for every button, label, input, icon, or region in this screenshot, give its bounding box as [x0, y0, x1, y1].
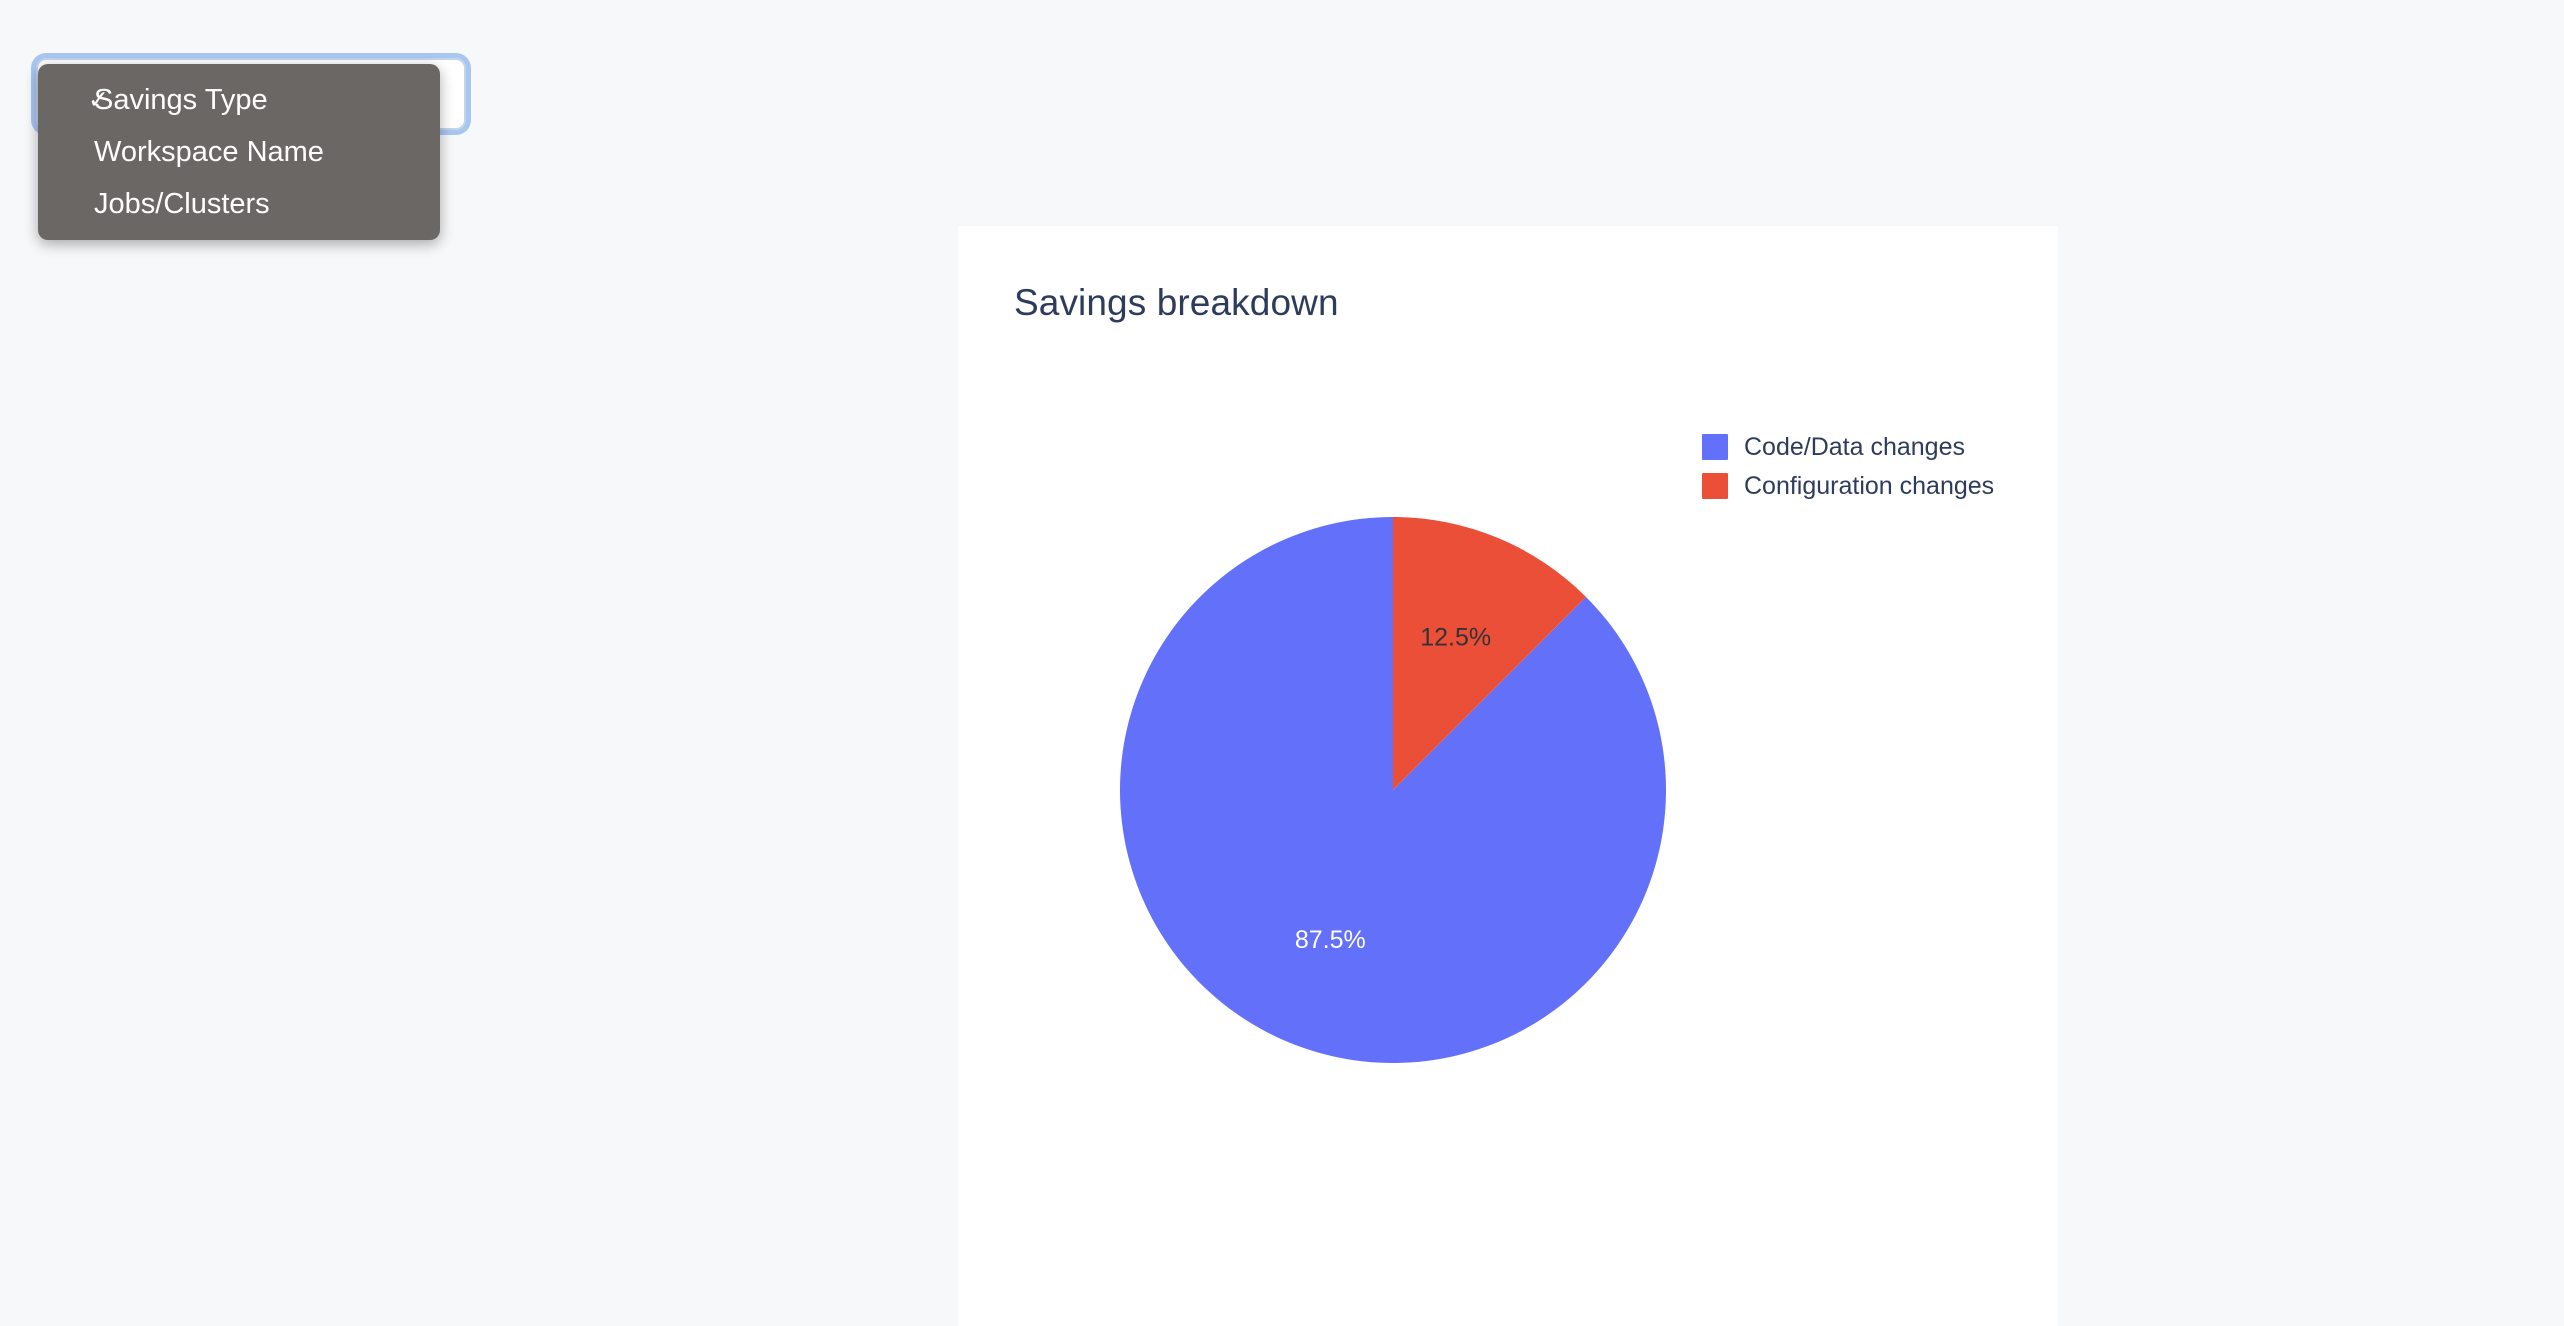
menu-item-savings-type[interactable]: ✓ Savings Type	[38, 74, 440, 126]
menu-item-label: Jobs/Clusters	[94, 188, 270, 221]
savings-type-dropdown-menu[interactable]: ✓ Savings Type Workspace Name Jobs/Clust…	[38, 64, 440, 240]
menu-item-label: Savings Type	[94, 84, 268, 117]
pie-slice-value-label: 12.5%	[1420, 623, 1491, 651]
legend-color-swatch-icon	[1702, 434, 1728, 460]
pie-slice-value-label: 87.5%	[1295, 926, 1366, 954]
savings-breakdown-card: Savings breakdown Code/Data changes Conf…	[958, 226, 2058, 1326]
menu-item-workspace-name[interactable]: Workspace Name	[38, 126, 440, 178]
menu-item-label: Workspace Name	[94, 136, 324, 169]
chart-legend: Code/Data changes Configuration changes	[1702, 434, 1994, 499]
pie-chart: 87.5% 12.5%	[1120, 517, 1666, 1063]
legend-item-label: Configuration changes	[1744, 473, 1994, 499]
legend-color-swatch-icon	[1702, 473, 1728, 499]
check-icon: ✓	[88, 88, 109, 113]
legend-item-label: Code/Data changes	[1744, 434, 1965, 460]
page-title: Savings breakdown	[1014, 282, 1339, 324]
legend-item-code-data-changes[interactable]: Code/Data changes	[1702, 434, 1994, 460]
legend-item-configuration-changes[interactable]: Configuration changes	[1702, 473, 1994, 499]
menu-item-jobs-clusters[interactable]: Jobs/Clusters	[38, 178, 440, 230]
